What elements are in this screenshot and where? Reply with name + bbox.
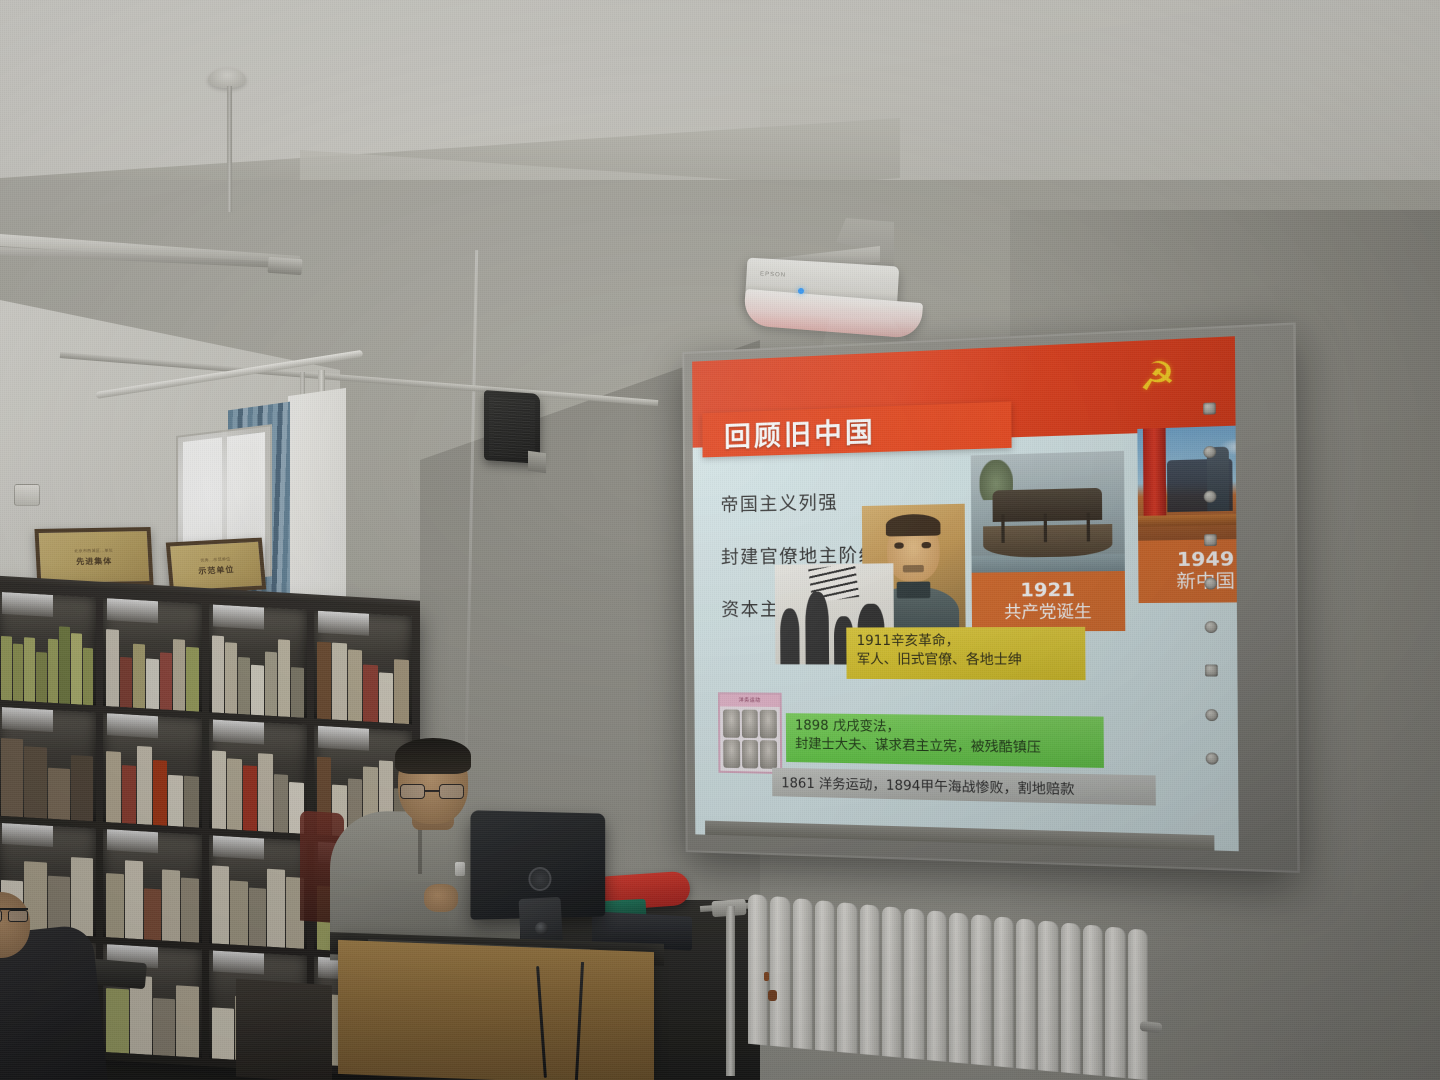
poster-face	[741, 710, 758, 739]
callout-line-1: 1911辛亥革命，	[857, 632, 1075, 651]
radiator-fin	[904, 908, 924, 1060]
cubby-highlight	[2, 822, 53, 847]
radiator-fin	[971, 914, 991, 1066]
bookshelf-cubby	[103, 713, 201, 827]
glasses-bridge	[425, 790, 439, 792]
book	[348, 650, 363, 722]
radiator-fin	[1128, 928, 1148, 1080]
book	[120, 657, 132, 708]
book-row	[106, 622, 198, 712]
book	[265, 652, 277, 717]
radiator-fin	[793, 898, 813, 1050]
book	[267, 869, 285, 948]
radiator-fin	[1105, 926, 1125, 1078]
book	[212, 1008, 234, 1060]
bookshelf-cubby	[0, 707, 96, 821]
book	[36, 652, 47, 703]
book	[24, 746, 46, 818]
whiteboard-side-button[interactable]	[1205, 752, 1218, 764]
book	[71, 857, 93, 936]
book	[332, 642, 347, 721]
image-boat-roof	[992, 488, 1103, 522]
whiteboard-button-panel[interactable]	[1189, 388, 1231, 779]
book-row	[1, 616, 93, 706]
poster-face	[723, 709, 740, 737]
book	[13, 643, 24, 701]
whiteboard-side-button[interactable]	[1203, 534, 1216, 546]
book	[238, 657, 250, 715]
book	[394, 659, 409, 724]
portrait-collar	[897, 581, 930, 598]
book	[106, 873, 124, 938]
camera-icon	[535, 922, 549, 936]
radiator-rust-spot	[768, 990, 777, 1001]
bookshelf-cubby	[209, 719, 307, 833]
whiteboard-side-button[interactable]	[1203, 403, 1216, 415]
bookshelf-cubby	[209, 604, 307, 718]
poster-face-grid	[720, 706, 780, 772]
book	[160, 652, 172, 710]
whiteboard-side-button[interactable]	[1203, 490, 1216, 502]
interactive-whiteboard[interactable]: ☭ 回顾旧中国 帝国主义列强 封建官僚地主阶级 资本主义买办阶级	[682, 322, 1299, 873]
book	[153, 997, 175, 1056]
speaker-grille	[489, 395, 535, 458]
wall-socket[interactable]	[14, 484, 40, 506]
bookshelf-cubby	[103, 828, 201, 942]
book	[125, 860, 143, 939]
radiator-fin	[815, 900, 835, 1052]
book-row	[212, 859, 304, 949]
callout-green-1898: 1898 戊戌变法， 封建士大夫、谋求君主立宪，被残酷镇压	[786, 713, 1104, 768]
book	[173, 639, 185, 711]
book	[181, 877, 199, 942]
bookshelf-cubby	[103, 598, 201, 712]
book	[227, 758, 242, 830]
book-row	[106, 852, 198, 942]
callout-line-2: 军人、旧式官僚、各地士绅	[857, 651, 1075, 670]
card-year: 1921	[1020, 581, 1075, 603]
poster-face	[742, 740, 759, 769]
plaque-subtitle: 优秀…示范单位	[200, 556, 231, 564]
historic-figures-poster: 洋务运动	[718, 692, 782, 774]
radiator-fin	[748, 894, 768, 1046]
book	[24, 637, 35, 702]
presentation-slide: ☭ 回顾旧中国 帝国主义列强 封建官僚地主阶级 资本主义买办阶级	[692, 336, 1239, 851]
whiteboard-side-button[interactable]	[1203, 446, 1216, 458]
bookshelf-cubby	[314, 610, 412, 724]
bookshelf-cubby	[0, 592, 96, 706]
book	[83, 648, 94, 706]
poster-face	[723, 740, 740, 769]
cubby-highlight	[2, 592, 53, 617]
podium-desk	[338, 940, 654, 1080]
illustration-figure	[805, 592, 829, 664]
book-row	[1, 731, 93, 821]
book	[168, 775, 183, 827]
presenter-hair	[395, 738, 471, 774]
foreground-chair	[236, 979, 332, 1080]
plaque-title: 示范单位	[198, 564, 235, 577]
book-row	[212, 628, 304, 718]
presenter-glasses-icon	[400, 784, 464, 799]
book	[71, 755, 93, 820]
book	[186, 647, 198, 712]
card-caption: 共产党诞生	[1004, 602, 1092, 622]
slide-title: 回顾旧中国	[724, 409, 876, 454]
glasses-lens-left	[400, 784, 425, 799]
poster-face	[760, 740, 777, 769]
book	[162, 869, 180, 941]
book	[106, 751, 121, 823]
book	[363, 664, 378, 722]
book	[176, 985, 198, 1057]
radiator-fin	[860, 904, 880, 1056]
book	[146, 658, 158, 709]
book	[106, 629, 118, 707]
portrait-moustache	[903, 565, 924, 572]
book	[258, 753, 273, 832]
illustration-figure	[780, 608, 800, 664]
light-suspension-rod	[227, 86, 232, 212]
glasses-lens-right	[439, 784, 464, 799]
nanhu-red-boat-image	[971, 451, 1125, 575]
bookshelf-cubby	[209, 835, 307, 949]
callout-line-1: 1861 洋务运动，1894甲午海战惨败，割地赔款	[781, 772, 1145, 800]
portrait-eye	[921, 542, 930, 549]
glasses-lens-left	[0, 910, 2, 922]
hammer-and-sickle-icon: ☭	[1132, 356, 1182, 401]
list-item: 帝国主义列强	[720, 487, 878, 517]
radiator-fin	[882, 906, 902, 1058]
image-boat-post	[1087, 513, 1091, 542]
radiator-rust-spot	[764, 972, 769, 981]
cubby-highlight	[107, 598, 158, 623]
book	[153, 760, 168, 825]
book	[225, 643, 237, 715]
callout-gray-1861: 1861 洋务运动，1894甲午海战惨败，割地赔款	[772, 768, 1156, 806]
slide-card-caption-1921: 1921 共产党诞生	[972, 571, 1126, 631]
projector-power-led-icon	[798, 288, 804, 294]
cubby-highlight	[213, 835, 264, 860]
radiator-fin	[927, 910, 947, 1062]
cubby-highlight	[2, 707, 53, 732]
smoke-detector-icon	[208, 68, 246, 88]
cubby-highlight	[213, 950, 264, 975]
whiteboard-side-button[interactable]	[1204, 578, 1217, 590]
dell-logo-icon	[528, 867, 551, 891]
radiator-fin	[949, 912, 969, 1064]
book	[106, 988, 128, 1053]
book	[184, 776, 199, 828]
cubby-highlight	[318, 611, 369, 636]
book	[212, 750, 227, 829]
radiator-fin	[1083, 924, 1103, 1076]
book	[122, 765, 137, 823]
poster-title: 洋务运动	[720, 694, 780, 707]
presenter-hand	[424, 884, 458, 912]
book	[379, 672, 394, 724]
poster-face	[760, 710, 777, 739]
polo-placket	[418, 828, 422, 874]
image-red-pillar	[1143, 428, 1166, 518]
book	[48, 768, 70, 820]
cubby-highlight	[213, 720, 264, 745]
radiator-fin	[770, 896, 790, 1048]
cubby-highlight	[213, 604, 264, 629]
plaque-subtitle: 北京市西城区…单位	[74, 547, 113, 554]
book	[291, 667, 303, 718]
radiator-fin	[1016, 918, 1036, 1070]
radiator-fin	[837, 902, 857, 1054]
book	[249, 888, 267, 946]
book	[278, 639, 290, 717]
book	[274, 774, 289, 832]
cubby-highlight	[107, 829, 158, 854]
book	[1, 738, 23, 817]
glasses-lens-right	[8, 910, 28, 922]
book	[230, 880, 248, 945]
polo-badge	[455, 862, 465, 876]
book	[48, 639, 59, 704]
cubby-highlight	[318, 726, 369, 751]
book-row	[212, 743, 304, 833]
book	[212, 635, 224, 713]
book	[71, 633, 82, 705]
book-row	[106, 737, 198, 827]
fluorescent-tube-end-cap	[267, 257, 302, 275]
book	[59, 626, 70, 704]
radiator-pipe-vertical	[726, 906, 735, 1076]
callout-yellow-1911: 1911辛亥革命， 军人、旧式官僚、各地士绅	[846, 627, 1085, 680]
portrait-eye	[895, 542, 904, 549]
whiteboard-side-button[interactable]	[1204, 621, 1217, 633]
radiator-end-cap	[1140, 1021, 1163, 1033]
cubby-highlight	[107, 713, 158, 738]
radiator-fin	[1038, 920, 1058, 1072]
book	[251, 664, 263, 715]
book-row	[317, 634, 409, 724]
whiteboard-side-button[interactable]	[1204, 665, 1217, 677]
speaker-bracket	[528, 451, 546, 474]
portrait-hair	[885, 514, 941, 537]
book	[1, 636, 12, 701]
book	[133, 644, 145, 709]
image-boat-post	[1044, 514, 1047, 543]
projector-brand-label: EPSON	[760, 271, 786, 278]
book	[317, 641, 332, 720]
plaque-title: 先进集体	[76, 555, 113, 567]
book	[243, 766, 258, 831]
callout-line-2: 封建士大夫、谋求君主立宪，被残酷镇压	[795, 735, 1094, 758]
whiteboard-side-button[interactable]	[1205, 709, 1218, 721]
book	[212, 865, 230, 944]
slide-body: 帝国主义列强 封建官僚地主阶级 资本主义买办阶级	[693, 441, 1239, 851]
foreground-person-glasses-icon	[0, 908, 28, 920]
book	[144, 888, 162, 940]
whiteboard-screen[interactable]: ☭ 回顾旧中国 帝国主义列强 封建官僚地主阶级 资本主义买办阶级	[692, 336, 1239, 851]
book	[137, 746, 152, 825]
classroom-scene: 北京市西城区…单位 先进集体 优秀…示范单位 示范单位 EPSON ☭ 回顾旧中…	[0, 0, 1440, 1080]
radiator-fin	[1061, 922, 1081, 1074]
radiator-fin	[994, 916, 1014, 1068]
image-boat-post	[1001, 514, 1004, 543]
